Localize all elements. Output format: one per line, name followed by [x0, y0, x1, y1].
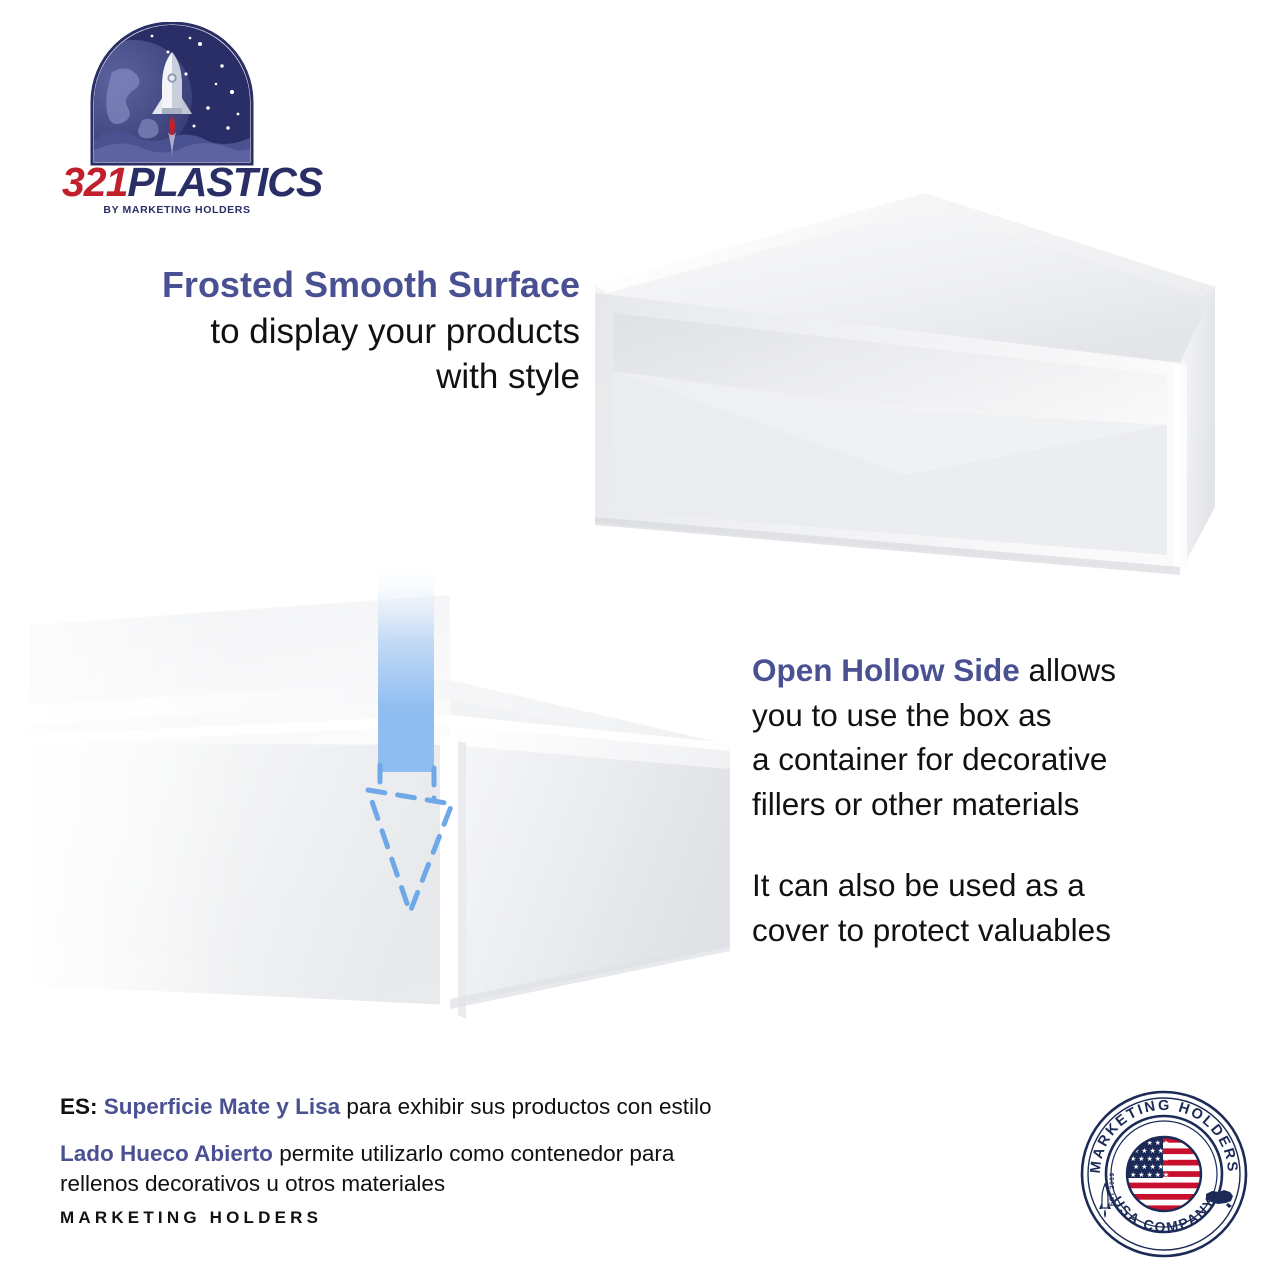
- hollow-line-3: a container for decorative: [752, 737, 1222, 782]
- hollow-line-4: fillers or other materials: [752, 782, 1222, 827]
- marketing-holders-footer-text: MARKETING HOLDERS: [60, 1208, 322, 1228]
- frosted-heading: Frosted Smooth Surface: [162, 264, 580, 305]
- spanish-line-2: Lado Hueco Abierto permite utilizarlo co…: [60, 1139, 860, 1168]
- callout-frosted-surface: Frosted Smooth Surface to display your p…: [110, 262, 580, 400]
- spanish-rest-2: permite utilizarlo como contenedor para: [273, 1141, 674, 1166]
- badge-est-text: EST 2009: [1109, 1172, 1116, 1206]
- logo-number: 321: [62, 159, 127, 205]
- hollow-para2-line-1: It can also be used as a: [752, 863, 1222, 908]
- hollow-para2-line-2: cover to protect valuables: [752, 908, 1222, 953]
- hollow-heading: Open Hollow Side: [752, 652, 1020, 688]
- spanish-line-3: rellenos decorativos u otros materiales: [60, 1169, 860, 1198]
- svg-text:★ ★ ★ ★: ★ ★ ★ ★: [1133, 1163, 1164, 1171]
- logo-tagline: BY MARKETING HOLDERS: [62, 205, 292, 216]
- frosted-acrylic-box-closed: [575, 175, 1235, 605]
- frosted-line-2: to display your products: [110, 309, 580, 355]
- frosted-line-3: with style: [110, 354, 580, 400]
- hollow-heading-suffix: allows: [1020, 652, 1116, 688]
- logo-wordmark: 321PLASTICS BY MARKETING HOLDERS: [62, 162, 292, 216]
- rocket-globe-icon: [82, 22, 262, 172]
- brand-logo: 321PLASTICS BY MARKETING HOLDERS: [62, 22, 292, 212]
- spanish-footer: ES: Superficie Mate y Lisa para exhibir …: [60, 1092, 860, 1198]
- insert-direction-arrow: [330, 560, 490, 930]
- callout-open-hollow-side: Open Hollow Side allows you to use the b…: [752, 648, 1222, 952]
- hollow-line-2: you to use the box as: [752, 693, 1222, 738]
- logo-word: PLASTICS: [127, 159, 322, 205]
- svg-text:★ ★ ★ ★ ★: ★ ★ ★ ★ ★: [1130, 1155, 1169, 1163]
- infographic-canvas: 321PLASTICS BY MARKETING HOLDERS: [0, 0, 1280, 1280]
- spanish-accent-1: Superficie Mate y Lisa: [104, 1094, 340, 1119]
- spanish-rest-1: para exhibir sus productos con estilo: [340, 1094, 711, 1119]
- spanish-accent-2: Lado Hueco Abierto: [60, 1141, 273, 1166]
- spanish-line-1: ES: Superficie Mate y Lisa para exhibir …: [60, 1092, 860, 1121]
- usa-company-badge: ★ ★ ★ ★ ★ ★ ★ ★ ★ ★ ★ ★ ★ ★ ★ ★ ★ ★ ★ ★ …: [1078, 1088, 1250, 1260]
- svg-text:★ ★ ★ ★ ★: ★ ★ ★ ★ ★: [1130, 1171, 1169, 1179]
- lang-tag: ES:: [60, 1094, 98, 1119]
